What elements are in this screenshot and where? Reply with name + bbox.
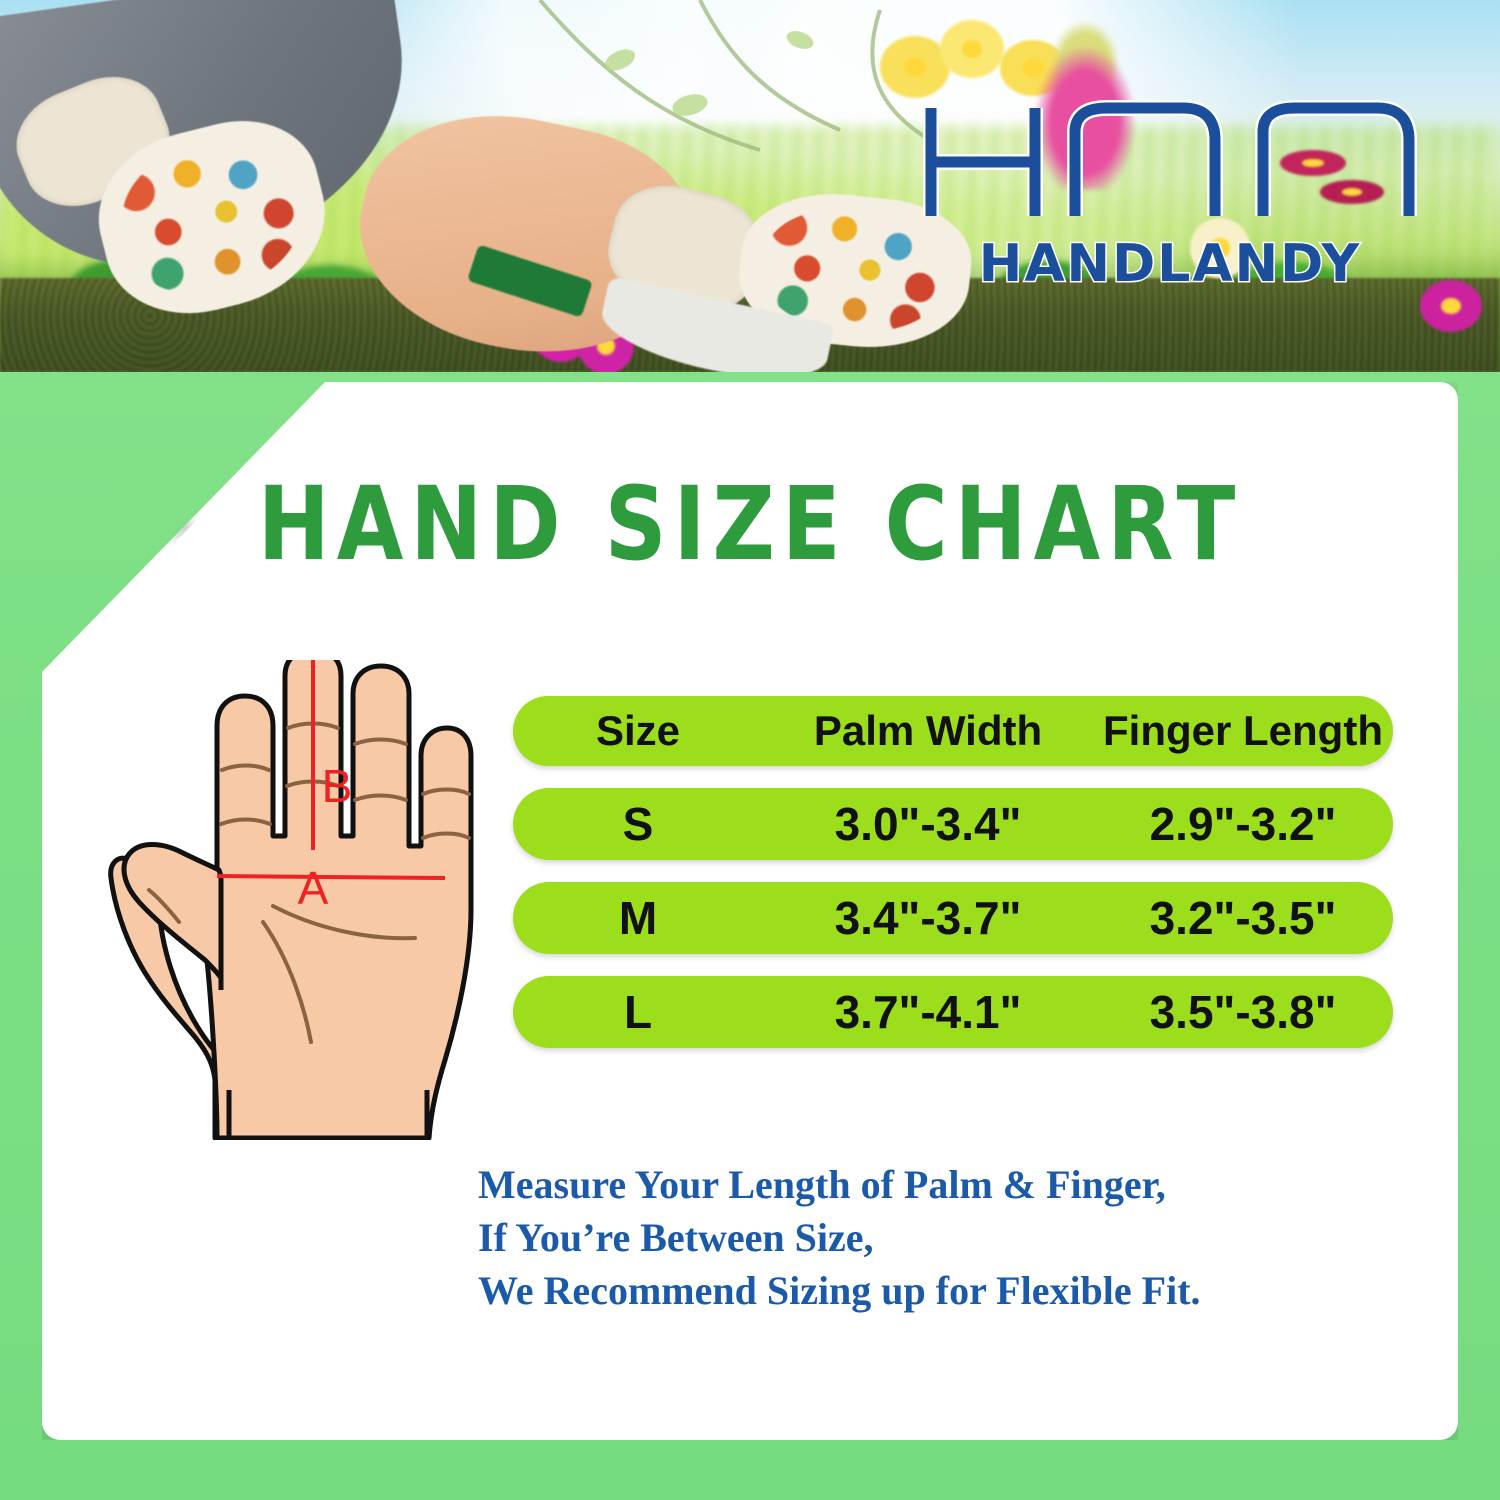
- hand-measurement-diagram: A B: [105, 660, 495, 1140]
- table-row: M 3.4"-3.7" 3.2"-3.5": [513, 882, 1393, 954]
- poster-root: HANDLANDY HAND SIZE CHART: [0, 0, 1500, 1500]
- table-row: S 3.0"-3.4" 2.9"-3.2": [513, 788, 1393, 860]
- size-chart-table: Size Palm Width Finger Length S 3.0"-3.4…: [513, 696, 1393, 1070]
- cell-palm-width: 3.0"-3.4": [763, 797, 1093, 851]
- header-cell-finger-length: Finger Length: [1093, 707, 1393, 755]
- cell-size: M: [513, 891, 763, 945]
- page-title: HAND SIZE CHART: [0, 466, 1500, 584]
- handlandy-logo: HANDLANDY: [915, 92, 1425, 292]
- flower-magenta-3: [1420, 280, 1482, 332]
- cell-finger-length: 3.2"-3.5": [1093, 891, 1393, 945]
- note-line-3: We Recommend Sizing up for Flexible Fit.: [478, 1264, 1458, 1317]
- flower-daffodil-2: [940, 20, 1004, 78]
- label-b: B: [322, 760, 353, 812]
- hand-illustration-icon: A B: [105, 660, 495, 1140]
- hd-monogram-icon: [915, 92, 1425, 232]
- cell-palm-width: 3.4"-3.7": [763, 891, 1093, 945]
- cell-finger-length: 3.5"-3.8": [1093, 985, 1393, 1039]
- hero-photo: HANDLANDY: [0, 0, 1500, 372]
- header-cell-size: Size: [513, 707, 763, 755]
- note-line-1: Measure Your Length of Palm & Finger,: [478, 1158, 1458, 1211]
- cell-finger-length: 2.9"-3.2": [1093, 797, 1393, 851]
- label-a: A: [298, 862, 329, 914]
- cell-size: L: [513, 985, 763, 1039]
- header-cell-palm-width: Palm Width: [763, 707, 1093, 755]
- measurement-instructions: Measure Your Length of Palm & Finger, If…: [478, 1158, 1458, 1318]
- cell-palm-width: 3.7"-4.1": [763, 985, 1093, 1039]
- brand-wordmark: HANDLANDY: [915, 234, 1425, 294]
- cell-size: S: [513, 797, 763, 851]
- measurement-line-a: [217, 876, 445, 878]
- table-row: L 3.7"-4.1" 3.5"-3.8": [513, 976, 1393, 1048]
- table-header-row: Size Palm Width Finger Length: [513, 696, 1393, 766]
- note-line-2: If You’re Between Size,: [478, 1211, 1458, 1264]
